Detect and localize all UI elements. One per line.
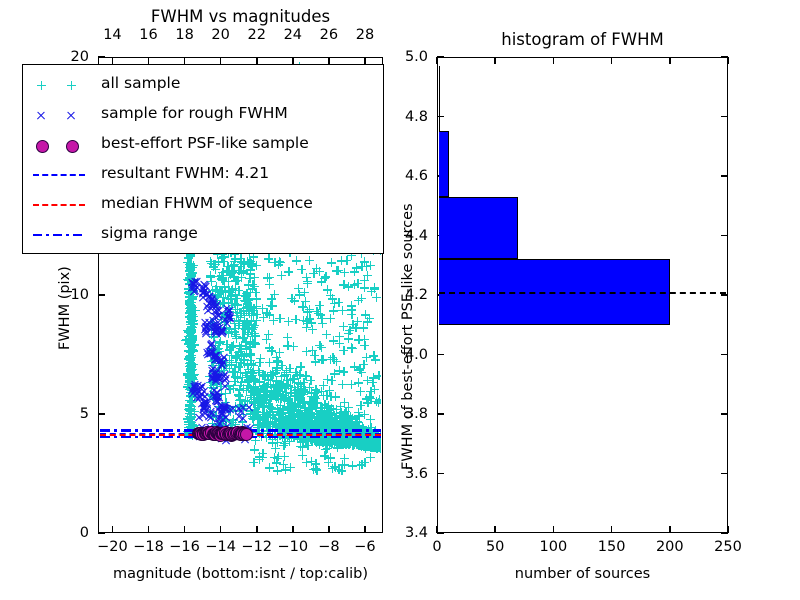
legend-item: best-effort PSF-like sample (23, 130, 383, 160)
scatter-point-all-sample (255, 415, 264, 424)
top-tick-label: 20 (211, 27, 229, 43)
legend-glyph (37, 111, 46, 120)
scatter-point-all-sample (366, 415, 375, 424)
scatter-point-all-sample (289, 342, 298, 351)
scatter-point-all-sample (329, 355, 338, 364)
scatter-point-all-sample (324, 401, 333, 410)
top-tick-label: 24 (284, 27, 302, 43)
scatter-point-all-sample (305, 305, 314, 314)
legend-marker-dashed-icon (23, 160, 97, 190)
legend-item: sigma range (23, 220, 383, 250)
bottom-tick-label: −12 (241, 539, 272, 555)
top-tick-label: 16 (139, 27, 157, 43)
right-x-tick-label: 250 (714, 539, 742, 555)
scatter-point-all-sample (282, 368, 291, 377)
scatter-point-all-sample (218, 268, 227, 277)
scatter-point-all-sample (337, 256, 346, 265)
left-yaxis-label: FWHM (pix) (57, 266, 73, 350)
scatter-point-all-sample (237, 269, 246, 278)
bottom-tick-label: −6 (354, 539, 375, 555)
scatter-point-all-sample (347, 380, 356, 389)
axis-tick (437, 532, 444, 534)
left-y-tick-label: 10 (71, 287, 89, 303)
axis-tick (437, 56, 444, 58)
scatter-point-all-sample (350, 362, 359, 371)
scatter-point-all-sample (189, 346, 198, 355)
scatter-point-all-sample (299, 316, 308, 325)
scatter-point-all-sample (315, 341, 324, 350)
axis-tick (436, 57, 438, 64)
right-x-tick-label: 0 (432, 539, 441, 555)
legend-label: all sample (101, 74, 180, 92)
top-tick-label: 14 (103, 27, 121, 43)
scatter-point-all-sample (329, 306, 338, 315)
scatter-point-all-sample (188, 316, 197, 325)
right-yaxis-label: FWHM of best-effort PSF-like sources (400, 203, 416, 470)
scatter-point-all-sample (239, 306, 248, 315)
scatter-point-all-sample (270, 290, 279, 299)
histogram-resultant-fwhm-line (439, 292, 727, 294)
scatter-point-all-sample (301, 404, 310, 413)
scatter-point-all-sample (248, 280, 257, 289)
scatter-point-all-sample (241, 325, 250, 334)
scatter-point-all-sample (362, 394, 371, 403)
scatter-point-all-sample (275, 314, 284, 323)
scatter-point-all-sample (347, 310, 356, 319)
legend-marker-cross-icon (23, 100, 97, 130)
scatter-point-all-sample (320, 451, 329, 460)
legend-item: resultant FWHM: 4.21 (23, 160, 383, 190)
scatter-point-all-sample (268, 411, 277, 420)
bottom-tick-label: −16 (169, 539, 200, 555)
scatter-point-all-sample (286, 463, 295, 472)
top-tick-label: 28 (356, 27, 374, 43)
legend-marker-dashed-icon (23, 190, 97, 220)
legend-glyph (67, 111, 76, 120)
scatter-point-all-sample (185, 402, 194, 411)
scatter-point-rough-sample (220, 376, 229, 385)
scatter-point-all-sample (310, 389, 319, 398)
top-tick-label: 18 (175, 27, 193, 43)
scatter-point-all-sample (266, 380, 275, 389)
scatter-point-all-sample (273, 357, 282, 366)
scatter-point-all-sample (300, 288, 309, 297)
scatter-point-rough-sample (193, 283, 202, 292)
scatter-point-all-sample (330, 369, 339, 378)
legend-glyph (67, 81, 76, 90)
right-x-tick-label: 200 (656, 539, 684, 555)
scatter-point-all-sample (244, 376, 253, 385)
scatter-point-all-sample (186, 327, 195, 336)
scatter-point-all-sample (187, 360, 196, 369)
scatter-point-psf-sample (240, 428, 253, 441)
legend-glyph (36, 140, 49, 153)
scatter-point-all-sample (296, 415, 305, 424)
scatter-point-all-sample (303, 279, 312, 288)
scatter-point-all-sample (312, 398, 321, 407)
scatter-point-all-sample (375, 395, 382, 404)
left-xaxis-label: magnitude (bottom:isnt / top:calib) (98, 566, 383, 582)
scatter-point-all-sample (262, 335, 271, 344)
scatter-point-all-sample (372, 443, 381, 452)
scatter-point-all-sample (253, 403, 262, 412)
right-xaxis-label: number of sources (437, 566, 728, 582)
left-y-tick-label: 20 (71, 49, 89, 65)
scatter-point-all-sample (361, 310, 370, 319)
left-y-tick-label: 0 (80, 525, 89, 541)
legend-label: resultant FWHM: 4.21 (101, 164, 269, 182)
scatter-point-rough-sample (226, 405, 235, 414)
right-x-tick-label: 50 (486, 539, 504, 555)
scatter-point-all-sample (359, 360, 368, 369)
bottom-tick-label: −18 (133, 539, 164, 555)
scatter-point-all-sample (245, 342, 254, 351)
scatter-point-all-sample (216, 337, 225, 346)
histogram-bar (439, 131, 449, 196)
legend-marker-dot-icon (23, 130, 97, 160)
scatter-point-all-sample (326, 392, 335, 401)
scatter-point-all-sample (227, 342, 236, 351)
axis-tick (98, 56, 105, 58)
axis-tick (721, 532, 728, 534)
scatter-point-all-sample (224, 287, 233, 296)
scatter-point-all-sample (366, 453, 375, 462)
scatter-point-all-sample (295, 370, 304, 379)
scatter-point-all-sample (329, 336, 338, 345)
scatter-point-all-sample (311, 464, 320, 473)
histogram-bar (439, 197, 519, 259)
bottom-tick-label: −20 (97, 539, 128, 555)
scatter-point-all-sample (239, 291, 248, 300)
legend-line (33, 204, 85, 206)
scatter-point-all-sample (363, 271, 372, 280)
scatter-point-all-sample (326, 314, 335, 323)
right-y-tick-label: 3.4 (405, 525, 428, 541)
scatter-point-all-sample (300, 387, 309, 396)
scatter-point-all-sample (290, 383, 299, 392)
scatter-point-rough-sample (206, 409, 215, 418)
scatter-point-all-sample (186, 259, 195, 268)
histogram-bar (439, 325, 440, 387)
scatter-point-all-sample (283, 333, 292, 342)
right-plot-title: histogram of FWHM (437, 30, 728, 49)
left-plot-title: FWHM vs magnitudes (98, 7, 383, 26)
legend-glyph (66, 140, 79, 153)
scatter-point-all-sample (347, 343, 356, 352)
legend-marker-plus-icon (23, 70, 97, 100)
scatter-point-all-sample (258, 449, 267, 458)
scatter-point-all-sample (279, 391, 288, 400)
top-tick-label: 26 (320, 27, 338, 43)
scatter-point-rough-sample (207, 339, 216, 348)
right-plot-data-area (439, 59, 727, 532)
scatter-point-all-sample (347, 415, 356, 424)
scatter-point-all-sample (249, 458, 258, 467)
scatter-point-all-sample (227, 268, 236, 277)
scatter-point-all-sample (338, 306, 347, 315)
scatter-point-all-sample (188, 303, 197, 312)
legend-label: median FHWM of sequence (101, 194, 313, 212)
scatter-point-rough-sample (224, 311, 233, 320)
scatter-point-all-sample (340, 398, 349, 407)
legend-item: median FHWM of sequence (23, 190, 383, 220)
scatter-point-all-sample (338, 460, 347, 469)
histogram-bar (439, 66, 441, 131)
scatter-point-all-sample (339, 346, 348, 355)
scatter-point-all-sample (369, 351, 378, 360)
scatter-point-all-sample (184, 417, 193, 426)
scatter-point-all-sample (247, 262, 256, 271)
scatter-point-all-sample (298, 437, 307, 446)
scatter-point-all-sample (240, 359, 249, 368)
bottom-tick-label: −10 (277, 539, 308, 555)
axis-tick (721, 56, 728, 58)
scatter-point-all-sample (320, 274, 329, 283)
scatter-point-all-sample (354, 296, 363, 305)
figure-canvas: FWHM vs magnitudes 1416182022242628 −20−… (0, 0, 800, 600)
scatter-point-all-sample (339, 367, 348, 376)
legend-marker-dashdot-icon (23, 220, 97, 250)
scatter-point-all-sample (362, 262, 371, 271)
scatter-point-all-sample (355, 461, 364, 470)
plot-legend: all samplesample for rough FWHMbest-effo… (22, 64, 384, 254)
scatter-point-all-sample (315, 301, 324, 310)
scatter-point-all-sample (284, 317, 293, 326)
scatter-point-all-sample (332, 266, 341, 275)
right-y-tick-label: 4.8 (405, 109, 428, 125)
scatter-point-all-sample (360, 283, 369, 292)
scatter-point-all-sample (277, 415, 286, 424)
scatter-point-all-sample (277, 271, 286, 280)
scatter-point-all-sample (273, 438, 282, 447)
scatter-point-all-sample (338, 380, 347, 389)
legend-glyph (37, 81, 46, 90)
legend-label: sigma range (101, 224, 198, 242)
legend-label: best-effort PSF-like sample (101, 134, 309, 152)
scatter-point-all-sample (268, 301, 277, 310)
legend-label: sample for rough FWHM (101, 104, 288, 122)
bottom-tick-label: −14 (205, 539, 236, 555)
scatter-point-all-sample (316, 310, 325, 319)
scatter-point-all-sample (330, 462, 339, 471)
left-y-tick-label: 5 (80, 406, 89, 422)
right-y-tick-label: 5.0 (405, 49, 428, 65)
scatter-point-all-sample (218, 253, 227, 262)
scatter-point-all-sample (370, 283, 379, 292)
scatter-point-all-sample (264, 254, 273, 263)
scatter-point-all-sample (275, 257, 284, 266)
scatter-point-all-sample (305, 256, 314, 265)
scatter-point-rough-sample (235, 404, 244, 413)
scatter-point-all-sample (265, 463, 274, 472)
scatter-point-all-sample (328, 420, 337, 429)
scatter-point-all-sample (323, 440, 332, 449)
scatter-point-all-sample (258, 384, 267, 393)
scatter-point-all-sample (352, 263, 361, 272)
scatter-point-all-sample (344, 329, 353, 338)
scatter-point-all-sample (318, 319, 327, 328)
right-y-tick-label: 4.6 (405, 168, 428, 184)
scatter-point-all-sample (297, 265, 306, 274)
right-x-tick-label: 150 (598, 539, 626, 555)
axis-tick (98, 532, 105, 534)
scatter-point-all-sample (290, 296, 299, 305)
scatter-point-all-sample (246, 367, 255, 376)
scatter-point-all-sample (319, 381, 328, 390)
top-tick-label: 22 (247, 27, 265, 43)
scatter-point-all-sample (311, 357, 320, 366)
right-x-tick-label: 100 (540, 539, 568, 555)
scatter-point-all-sample (273, 454, 282, 463)
scatter-point-all-sample (256, 354, 265, 363)
legend-line (33, 174, 85, 176)
scatter-point-all-sample (298, 451, 307, 460)
scatter-point-all-sample (344, 282, 353, 291)
scatter-point-all-sample (312, 419, 321, 428)
bottom-tick-label: −8 (318, 539, 339, 555)
scatter-point-all-sample (266, 370, 275, 379)
scatter-point-all-sample (267, 347, 276, 356)
scatter-point-all-sample (258, 304, 267, 313)
scatter-point-all-sample (363, 376, 372, 385)
axis-tick (727, 57, 729, 64)
legend-item: sample for rough FWHM (23, 100, 383, 130)
scatter-point-all-sample (263, 273, 272, 282)
legend-item: all sample (23, 70, 383, 100)
legend-line (33, 234, 85, 236)
